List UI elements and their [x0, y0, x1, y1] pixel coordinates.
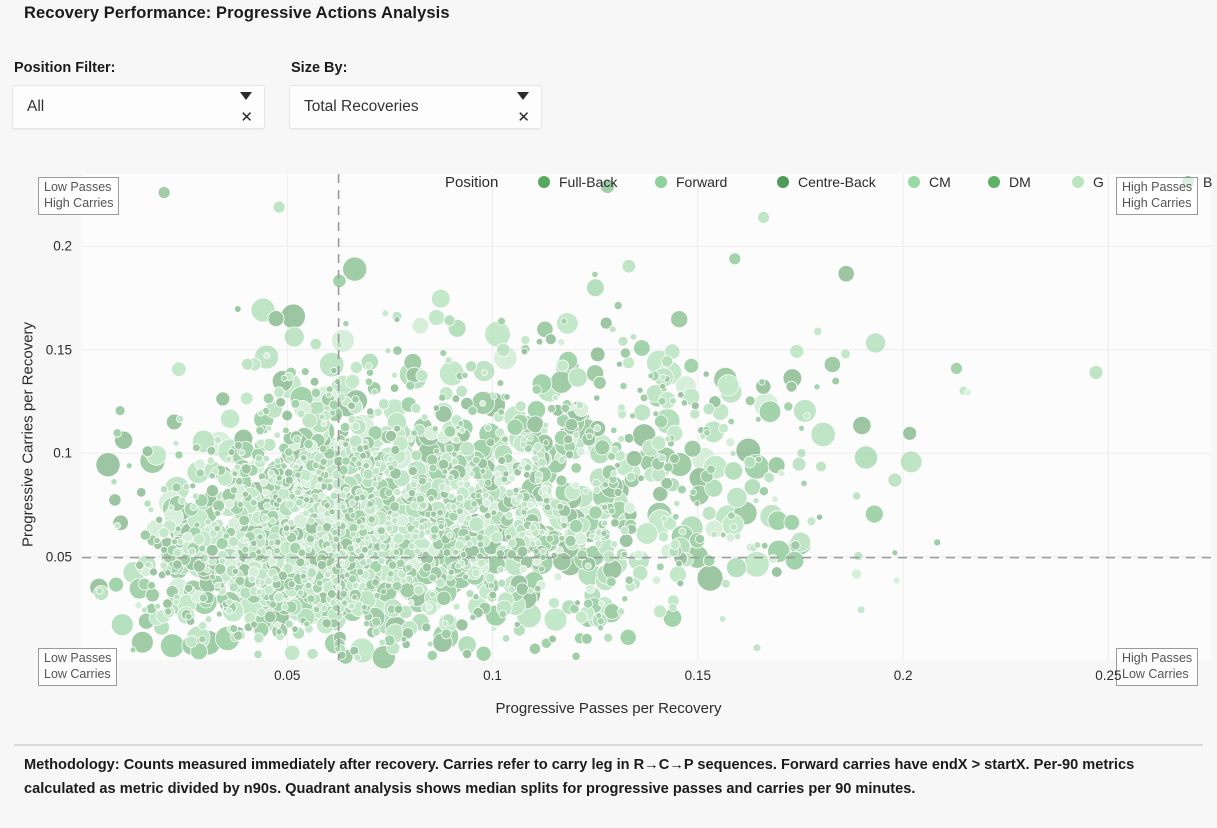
- quadrant-label-line1: Low Passes: [44, 180, 113, 196]
- legend-item-label: CM: [929, 174, 951, 190]
- position-filter-select[interactable]: All ✕: [12, 85, 265, 129]
- size-by-value: Total Recoveries: [290, 98, 419, 116]
- x-tick-label: 0.05: [274, 668, 300, 683]
- legend-item-cm[interactable]: CM: [908, 174, 951, 190]
- quadrant-label-line2: Low Carries: [1122, 667, 1192, 683]
- chart-page: Recovery Performance: Progressive Action…: [0, 0, 1217, 828]
- legend-swatch-icon: [655, 176, 667, 188]
- scatter-plot-canvas[interactable]: [0, 160, 1217, 735]
- legend-item-label: Full-Back: [559, 174, 617, 190]
- x-tick-label: 0.2: [894, 668, 913, 683]
- y-axis-label: Progressive Carries per Recovery: [20, 175, 37, 695]
- legend-item-label: Forward: [676, 174, 727, 190]
- quadrant-label-line2: High Carries: [1122, 196, 1192, 212]
- x-tick-label: 0.15: [685, 668, 711, 683]
- x-axis-label: Progressive Passes per Recovery: [0, 700, 1217, 717]
- quadrant-label-line1: High Passes: [1122, 651, 1192, 667]
- quadrant-label-line1: High Passes: [1122, 180, 1192, 196]
- quadrant-label-line2: Low Carries: [44, 667, 111, 683]
- position-filter-group: Position Filter: All ✕: [12, 60, 265, 129]
- page-title: Recovery Performance: Progressive Action…: [24, 4, 450, 23]
- legend-item-label: G: [1093, 174, 1104, 190]
- legend-item-centre-back[interactable]: Centre-Back: [777, 174, 876, 190]
- quadrant-label-bottom-right: High PassesLow Carries: [1116, 648, 1198, 686]
- quadrant-label-line2: High Carries: [44, 196, 113, 212]
- legend-swatch-icon: [1072, 176, 1084, 188]
- legend-item-full-back[interactable]: Full-Back: [538, 174, 617, 190]
- legend-item-g[interactable]: G: [1072, 174, 1104, 190]
- size-by-group: Size By: Total Recoveries ✕: [289, 60, 542, 129]
- legend-item-label: Centre-Back: [798, 174, 876, 190]
- quadrant-label-top-left: Low PassesHigh Carries: [38, 177, 119, 215]
- quadrant-label-top-right: High PassesHigh Carries: [1116, 177, 1198, 215]
- chevron-down-icon[interactable]: [517, 92, 529, 100]
- position-filter-label: Position Filter:: [12, 60, 265, 76]
- quadrant-label-bottom-left: Low PassesLow Carries: [38, 648, 117, 686]
- x-tick-label: 0.25: [1095, 668, 1121, 683]
- legend-item-label: DM: [1009, 174, 1031, 190]
- legend-swatch-icon: [777, 176, 789, 188]
- legend-swatch-icon: [538, 176, 550, 188]
- close-icon[interactable]: ✕: [517, 110, 530, 125]
- legend-item-label: B: [1203, 174, 1212, 190]
- legend-item-dm[interactable]: DM: [988, 174, 1031, 190]
- size-by-select[interactable]: Total Recoveries ✕: [289, 85, 542, 129]
- chevron-down-icon[interactable]: [240, 92, 252, 100]
- quadrant-label-line1: Low Passes: [44, 651, 111, 667]
- size-by-label: Size By:: [289, 60, 542, 76]
- close-icon[interactable]: ✕: [240, 110, 253, 125]
- legend-item-forward[interactable]: Forward: [655, 174, 727, 190]
- position-filter-value: All: [13, 98, 44, 116]
- x-tick-label: 0.1: [483, 668, 502, 683]
- filter-toolbar: Position Filter: All ✕ Size By: Total Re…: [12, 60, 542, 129]
- footer-divider: [14, 744, 1203, 746]
- legend-swatch-icon: [988, 176, 1000, 188]
- legend-swatch-icon: [908, 176, 920, 188]
- methodology-note: Methodology: Counts measured immediately…: [24, 754, 1196, 801]
- scatter-chart: Position Full-BackForwardCentre-BackCMDM…: [0, 160, 1217, 735]
